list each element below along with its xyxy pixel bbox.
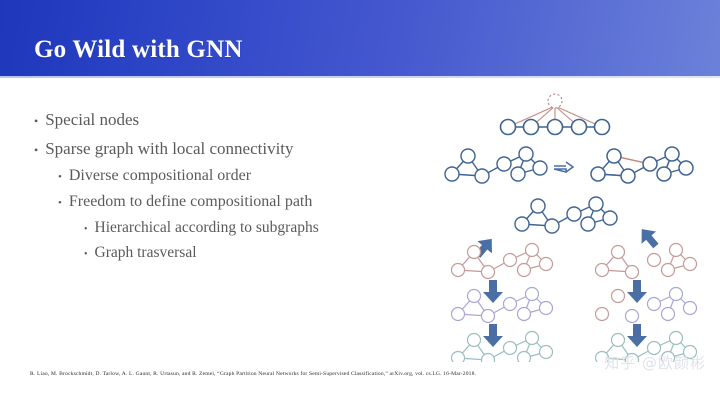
- bullet-icon: •: [34, 115, 38, 127]
- sparse-graph-left: [445, 147, 547, 183]
- branch-left-red-graph: [452, 244, 553, 279]
- branch-left-arrow-1: [483, 280, 503, 303]
- special-node-over-chain: [501, 94, 610, 135]
- branch-right-red-partition: [596, 244, 697, 279]
- bullet-icon: •: [58, 172, 62, 183]
- list-item-label: Freedom to define compositional path: [69, 193, 313, 211]
- list-item: • Sparse graph with local connectivity: [32, 139, 422, 159]
- zhihu-watermark: 知乎 @欧颜彬: [604, 352, 706, 373]
- list-item-label: Hierarchical according to subgraphs: [95, 219, 319, 237]
- bullet-icon: •: [58, 198, 62, 209]
- list-item-label: Graph trasversal: [95, 244, 197, 262]
- list-item-label: Sparse graph with local connectivity: [45, 139, 293, 159]
- bullet-icon: •: [84, 250, 88, 260]
- list-item: • Hierarchical according to subgraphs: [32, 219, 422, 237]
- list-item-label: Diverse compositional order: [69, 167, 251, 185]
- list-item: • Freedom to define compositional path: [32, 193, 422, 211]
- branch-right-arrow-2: [627, 324, 647, 347]
- split-arrow-right: [634, 223, 663, 252]
- list-item: • Graph trasversal: [32, 244, 422, 262]
- branch-right-arrow-1: [627, 280, 647, 303]
- densified-graph-right: [591, 147, 693, 183]
- bullet-list: • Special nodes • Sparse graph with loca…: [32, 110, 422, 269]
- page-title: Go Wild with GNN: [34, 36, 243, 64]
- citation-text: R. Liao, M. Brockschmidt, D. Tarlow, A. …: [30, 371, 700, 377]
- special-node: [548, 94, 562, 108]
- list-item: • Diverse compositional order: [32, 167, 422, 185]
- list-item-label: Special nodes: [45, 110, 139, 130]
- bullet-icon: •: [34, 144, 38, 156]
- graph-diagram-figure: [430, 84, 715, 362]
- branch-left-arrow-2: [483, 324, 503, 347]
- merged-graph-center: [515, 197, 617, 233]
- slide: Go Wild with GNN • Special nodes • Spars…: [0, 0, 720, 405]
- bullet-icon: •: [84, 225, 88, 235]
- transform-arrow-right: [554, 162, 573, 172]
- list-item: • Special nodes: [32, 110, 422, 130]
- slide-header-edge: [0, 76, 720, 78]
